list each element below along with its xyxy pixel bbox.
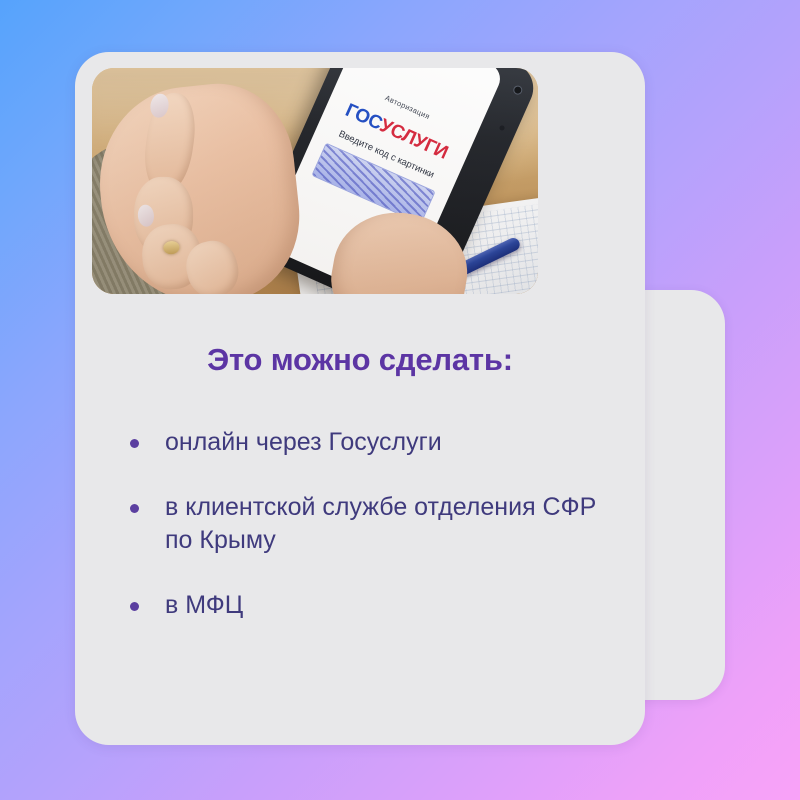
options-list: онлайн через Госуслуги в клиентской служ… <box>75 378 645 622</box>
list-item-label: в клиентской службе отделения СФР по Кры… <box>165 493 596 554</box>
photo-background: Авторизация 80% ГОСУСЛУГИ Введите код с … <box>92 68 538 294</box>
bullet-dot-icon <box>130 439 139 448</box>
page-title: Это можно сделать: <box>75 330 645 378</box>
hero-photo: Авторизация 80% ГОСУСЛУГИ Введите код с … <box>92 68 538 294</box>
content-block: Это можно сделать: онлайн через Госуслуг… <box>75 330 645 654</box>
list-item: в МФЦ <box>75 589 645 622</box>
front-camera-icon <box>514 85 523 94</box>
bullet-dot-icon <box>130 504 139 513</box>
list-item: онлайн через Госуслуги <box>75 426 645 459</box>
battery-status-label: 80% <box>494 141 505 151</box>
bullet-dot-icon <box>130 602 139 611</box>
list-item: в клиентской службе отделения СФР по Кры… <box>75 491 645 557</box>
poster-canvas: Авторизация 80% ГОСУСЛУГИ Введите код с … <box>0 0 800 800</box>
sensor-icon <box>499 124 506 131</box>
list-item-label: онлайн через Госуслуги <box>165 428 442 456</box>
list-item-label: в МФЦ <box>165 591 243 619</box>
